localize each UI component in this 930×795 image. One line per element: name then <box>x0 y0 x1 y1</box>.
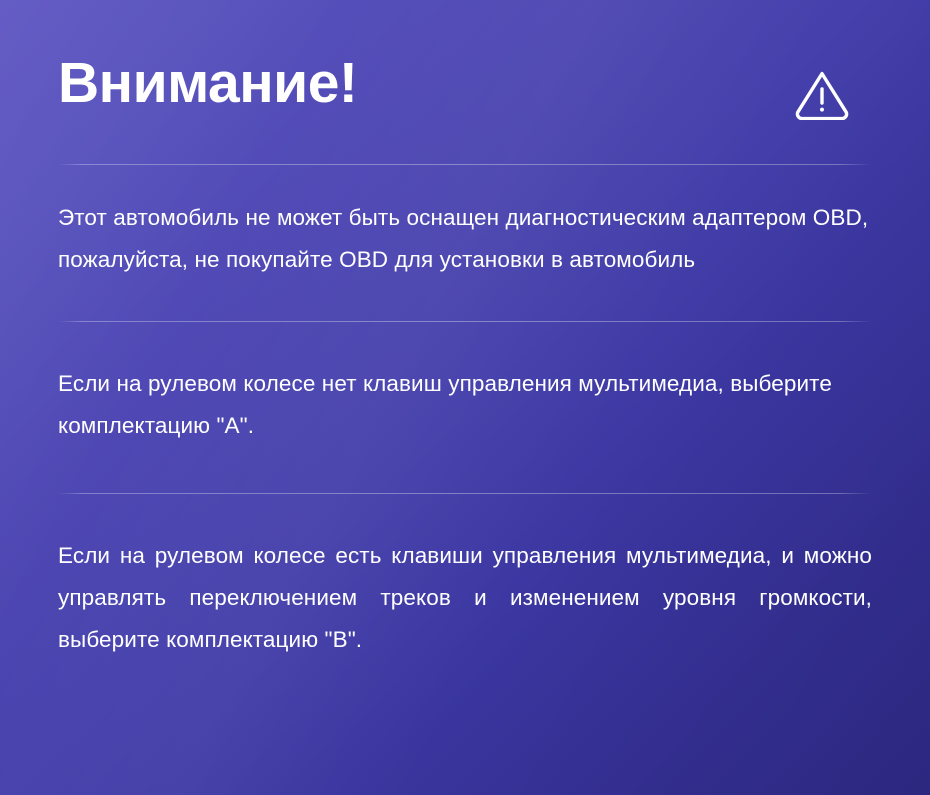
card-content: Внимание! Этот автомобиль не может быть … <box>0 0 930 707</box>
warning-triangle-icon <box>794 68 850 125</box>
notice-text: Если на рулевом колесе есть клавиши упра… <box>58 535 872 661</box>
notice-text: Если на рулевом колесе нет клавиш управл… <box>58 363 872 447</box>
warning-notice-card: Внимание! Этот автомобиль не может быть … <box>0 0 930 795</box>
notice-text: Этот автомобиль не может быть оснащен ди… <box>58 197 870 281</box>
notice-section-obd-adapter-warning: Этот автомобиль не может быть оснащен ди… <box>58 165 872 321</box>
page-title: Внимание! <box>58 54 357 112</box>
notice-section-trim-level-b: Если на рулевом колесе есть клавиши упра… <box>58 494 872 707</box>
notice-section-trim-level-a: Если на рулевом колесе нет клавиш управл… <box>58 322 872 493</box>
notice-header: Внимание! <box>58 0 872 125</box>
